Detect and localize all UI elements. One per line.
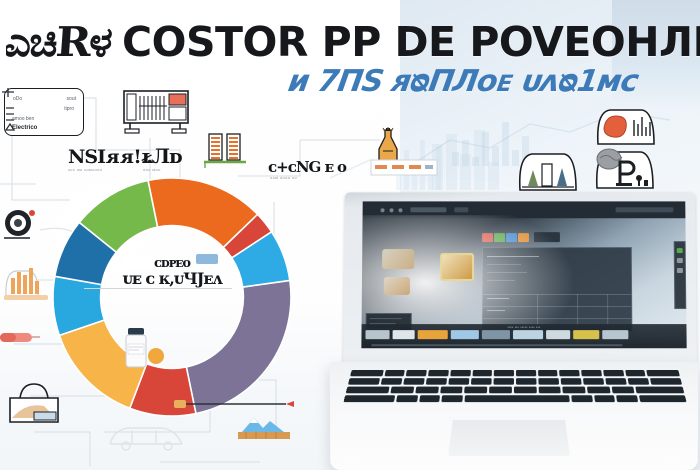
laptop-keyboard[interactable] — [343, 370, 687, 404]
car-outline-icon — [104, 414, 196, 458]
laptop-lid: ▪▪▪▪ ▪▪▪ ▪▪▪▪▪ ▪▪▪▪ ▪▪▪ — [343, 192, 697, 364]
laptop-base — [330, 362, 699, 470]
laptop: ▪▪▪▪ ▪▪▪ ▪▪▪▪▪ ▪▪▪▪ ▪▪▪ — [330, 192, 698, 470]
brain-p-icon — [592, 146, 658, 192]
keyboard-row[interactable] — [350, 370, 680, 376]
infographic-canvas: ಎಚಿRಳ COSTOR PP DE POVEOHЛГ PE ᴎ 7ПЅ ᴙᴓΠ… — [0, 0, 700, 470]
note-card-line-3: tipro — [64, 106, 74, 112]
screen-thumbnail-selected[interactable] — [440, 253, 474, 281]
note-card-line-2: sout — [67, 96, 76, 102]
page-title: ಎಚಿRಳ COSTOR PP DE POVEOHЛГ PE — [6, 18, 700, 70]
title-prefix-glyphs: ಎಚಿRಳ — [6, 18, 112, 67]
donut-center-mask — [124, 256, 154, 267]
slider-bar-icon — [370, 158, 440, 178]
server-rack-icon — [122, 88, 192, 136]
screen-side-panel — [674, 241, 687, 309]
skyline-icon — [516, 148, 580, 194]
keyboard-row[interactable] — [346, 387, 685, 394]
donut-chart: ᴄᴅᴘᴇᴏ ᴜᴇ ᴄ ᴋ,ᴜЧЈᴇᴧ — [28, 168, 316, 426]
donut-center-highlight-chip — [196, 254, 218, 264]
left-label-2: ᴌЛᴅ — [141, 144, 182, 168]
page-subtitle: ᴎ 7ПЅ ᴙᴓΠЛᴏᴇ ᴜᴧᴓ1ᴍᴄ — [285, 64, 700, 106]
screen-taskbar[interactable]: ▪▪▪▪ ▪▪▪ ▪▪▪▪▪ ▪▪▪▪ ▪▪▪ — [361, 324, 686, 348]
donut-center-rule — [84, 288, 232, 289]
battery-pair-icon — [204, 130, 248, 172]
note-card-connector-icon — [0, 86, 24, 132]
donut-center-line-2: ᴜᴇ ᴄ ᴋ,ᴜЧЈᴇᴧ — [28, 269, 316, 288]
laptop-screen[interactable]: ▪▪▪▪ ▪▪▪ ▪▪▪▪▪ ▪▪▪▪ ▪▪▪ — [361, 201, 686, 348]
meat-chart-icon — [594, 104, 658, 148]
mountain-icon — [232, 408, 296, 446]
vaccine-vial-icon — [116, 326, 168, 378]
keyboard-row[interactable] — [348, 378, 682, 385]
laptop-trackpad[interactable] — [448, 420, 570, 456]
title-main-text: COSTOR PP DE POVEOHЛГ PE — [122, 18, 700, 66]
screen-thumbnail[interactable] — [382, 249, 414, 269]
keyboard-row[interactable] — [343, 395, 686, 402]
donut-chart-svg — [28, 168, 316, 426]
left-label-1: NЅIᴙᴙ!.. — [68, 146, 152, 168]
screen-thumbnail[interactable] — [384, 277, 410, 295]
